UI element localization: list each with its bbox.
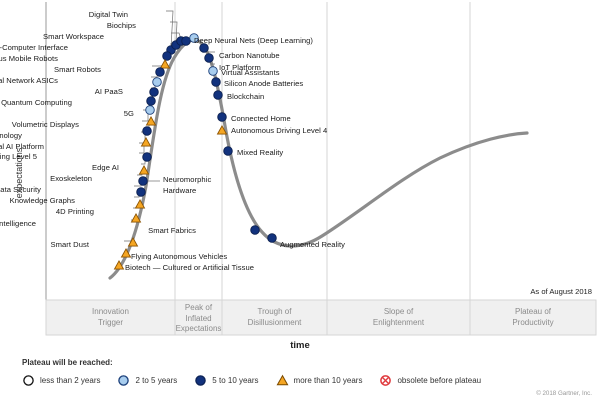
data-point-label: Autonomous Driving Level 5 bbox=[0, 152, 37, 161]
data-point-marker bbox=[268, 234, 277, 243]
data-point-marker bbox=[182, 37, 191, 46]
data-point-label: Self-Healing System Technology bbox=[0, 131, 22, 140]
phase-line-1: Plateau of bbox=[470, 307, 596, 318]
data-point-label: Autonomous Mobile Robots bbox=[0, 54, 58, 63]
legend-item-circle-dark: 5 to 10 years bbox=[194, 374, 258, 387]
phase-line-1: Peak of bbox=[175, 303, 222, 314]
data-point-marker bbox=[251, 226, 260, 235]
data-point-label: Biotech — Cultured or Artificial Tissue bbox=[125, 263, 254, 272]
data-point-marker bbox=[163, 52, 172, 61]
data-point-marker bbox=[137, 188, 146, 197]
legend-title: Plateau will be reached: bbox=[22, 358, 113, 367]
circle-light-icon bbox=[117, 374, 130, 387]
data-point-label: Augmented Reality bbox=[280, 240, 345, 249]
phase-peak-of-inflated-expectations: Peak of Inflated Expectations bbox=[175, 303, 222, 335]
phase-line-1: Innovation bbox=[46, 307, 175, 318]
data-point-marker bbox=[143, 127, 152, 136]
phase-line-2: Trigger bbox=[46, 318, 175, 329]
data-point-label: Brain-Computer Interface bbox=[0, 43, 68, 52]
data-point-label: Connected Home bbox=[231, 114, 291, 123]
data-point-label: Carbon Nanotube bbox=[219, 51, 280, 60]
circle-crossed-icon bbox=[379, 374, 392, 387]
legend-item-circle-light: 2 to 5 years bbox=[117, 374, 177, 387]
phase-plateau-of-productivity: Plateau of Productivity bbox=[470, 307, 596, 328]
phase-slope-of-enlightenment: Slope of Enlightenment bbox=[327, 307, 470, 328]
phase-line-2: Inflated bbox=[175, 314, 222, 325]
legend-item-triangle: more than 10 years bbox=[276, 374, 363, 387]
data-point-label: Knowledge Graphs bbox=[10, 196, 75, 205]
data-point-label: 4D Printing bbox=[56, 207, 94, 216]
data-point-marker bbox=[153, 78, 162, 87]
phase-trough-of-disillusionment: Trough of Disillusionment bbox=[222, 307, 327, 328]
phase-line-1: Slope of bbox=[327, 307, 470, 318]
data-point-marker bbox=[156, 68, 165, 77]
legend-item-label: 2 to 5 years bbox=[135, 376, 177, 385]
phase-line-2: Enlightenment bbox=[327, 318, 470, 329]
copyright-notice: © 2018 Gartner, Inc. bbox=[536, 390, 592, 397]
data-point-label: Neuromorphic bbox=[163, 175, 211, 184]
data-point-label: Deep Neural Network ASICs bbox=[0, 76, 58, 85]
x-axis-label: time bbox=[0, 340, 600, 351]
data-point-label: Blockchain for Data Security bbox=[0, 185, 41, 194]
data-point-marker bbox=[160, 60, 169, 68]
data-point-marker bbox=[150, 88, 159, 97]
data-point-label: 5G bbox=[124, 109, 134, 118]
data-point-marker bbox=[214, 91, 223, 100]
data-point-marker bbox=[205, 54, 214, 63]
data-point-label: Conversational AI Platform bbox=[0, 142, 44, 151]
data-point-marker bbox=[209, 67, 218, 76]
phase-line-2: Disillusionment bbox=[222, 318, 327, 329]
phase-innovation-trigger: Innovation Trigger bbox=[46, 307, 175, 328]
data-point-label: AI PaaS bbox=[95, 87, 123, 96]
data-point-marker bbox=[224, 147, 233, 156]
phase-line-2: Productivity bbox=[470, 318, 596, 329]
phase-line-3: Expectations bbox=[175, 324, 222, 335]
legend-item-circle-crossed: obsolete before plateau bbox=[379, 374, 481, 387]
legend: less than 2 years2 to 5 years5 to 10 yea… bbox=[22, 373, 498, 387]
data-point-marker bbox=[143, 153, 152, 162]
legend-item-label: obsolete before plateau bbox=[397, 376, 481, 385]
data-point-label: Mixed Reality bbox=[237, 148, 283, 157]
circle-dark-icon bbox=[194, 374, 207, 387]
data-point-label: Edge AI bbox=[92, 163, 119, 172]
data-point-label: Digital Twin bbox=[89, 10, 128, 19]
data-point-label: Virtual Assistants bbox=[221, 68, 280, 77]
legend-item-label: more than 10 years bbox=[294, 376, 363, 385]
data-point-label: Smart Fabrics bbox=[148, 226, 196, 235]
data-point-label: Volumetric Displays bbox=[12, 120, 79, 129]
data-point-label: Exoskeleton bbox=[50, 174, 92, 183]
data-point-marker bbox=[146, 106, 155, 115]
data-point-marker bbox=[139, 177, 148, 186]
data-point-label: Blockchain bbox=[227, 92, 264, 101]
data-point-label: Smart Workspace bbox=[43, 32, 104, 41]
as-of-date: As of August 2018 bbox=[530, 287, 592, 296]
data-point-label: Hardware bbox=[163, 186, 196, 195]
legend-item-label: 5 to 10 years bbox=[212, 376, 258, 385]
phase-line-1: Trough of bbox=[222, 307, 327, 318]
triangle-icon bbox=[276, 374, 289, 387]
data-point-marker bbox=[218, 113, 227, 122]
data-point-marker bbox=[128, 238, 137, 246]
circle-open-icon bbox=[22, 374, 35, 387]
data-point-label: Biochips bbox=[107, 21, 136, 30]
data-point-marker bbox=[141, 138, 150, 146]
data-point-label: Autonomous Driving Level 4 bbox=[231, 126, 327, 135]
data-point-marker bbox=[212, 78, 221, 87]
data-point-label: Deep Neural Nets (Deep Learning) bbox=[194, 36, 313, 45]
legend-item-label: less than 2 years bbox=[40, 376, 100, 385]
data-point-label: Flying Autonomous Vehicles bbox=[131, 252, 227, 261]
data-point-label: Artificial General Intelligence bbox=[0, 219, 36, 228]
data-point-label: Silicon Anode Batteries bbox=[224, 79, 303, 88]
data-point-label: Smart Robots bbox=[54, 65, 101, 74]
data-point-marker bbox=[147, 97, 156, 106]
legend-item-circle-open: less than 2 years bbox=[22, 374, 100, 387]
data-point-label: Quantum Computing bbox=[1, 98, 72, 107]
hype-cycle-chart: expectations time Digital TwinBiochipsSm… bbox=[0, 0, 600, 404]
data-point-label: Smart Dust bbox=[51, 240, 89, 249]
